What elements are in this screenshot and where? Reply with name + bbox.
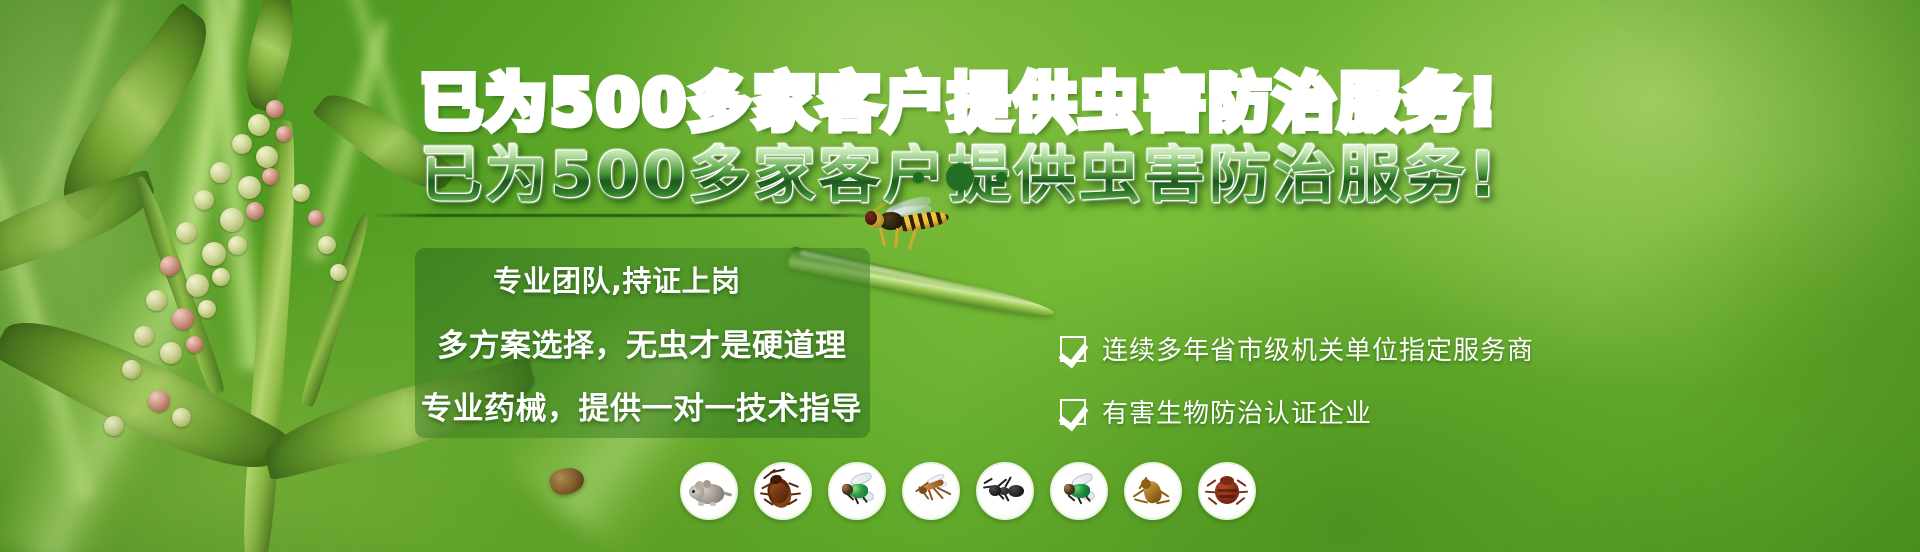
dot-large-center-icon [946,163,974,191]
ant-icon[interactable] [976,462,1034,520]
checkbox-checked-icon [1060,336,1086,362]
mosquito-icon[interactable] [902,462,960,520]
dot-small-right-icon [996,172,1007,183]
bed-bug-icon[interactable] [1198,462,1256,520]
cockroach-icon[interactable] [754,462,812,520]
list-item: 连续多年省市级机关单位指定服务商 [1060,330,1534,367]
checkbox-checked-icon [1060,399,1086,425]
headline-outline: 已为500多家客户提供虫害防治服务! [0,72,1920,134]
feature-line-3: 专业药械，提供一对一技术指导 [421,383,935,428]
bullet-label: 有害生物防治认证企业 [1102,393,1372,430]
pest-icon-row [680,462,1256,520]
feature-panel: 专业团队,持证上岗 多方案选择，无虫才是硬道理 专业药械，提供一对一技术指导 [415,248,935,438]
feature-line-2: 多方案选择，无虫才是硬道理 [437,320,935,365]
feature-line-1: 专业团队,持证上岗 [493,258,935,300]
rodent-icon[interactable] [680,462,738,520]
leaf-vein-line [370,214,890,217]
flea-icon[interactable] [1124,462,1182,520]
green-fly-icon[interactable] [828,462,886,520]
pest-control-hero-banner: 已为500多家客户提供虫害防治服务! 已为500多家客户提供虫害防治服务! 专业… [0,0,1920,552]
credential-bullet-list: 连续多年省市级机关单位指定服务商 有害生物防治认证企业 [1060,330,1534,430]
house-fly-icon[interactable] [1050,462,1108,520]
decorative-dots [0,163,1920,191]
dot-small-left-icon [913,172,924,183]
headline-wrapper: 已为500多家客户提供虫害防治服务! 已为500多家客户提供虫害防治服务! [0,72,1920,162]
list-item: 有害生物防治认证企业 [1060,393,1534,430]
bullet-label: 连续多年省市级机关单位指定服务商 [1102,330,1534,367]
